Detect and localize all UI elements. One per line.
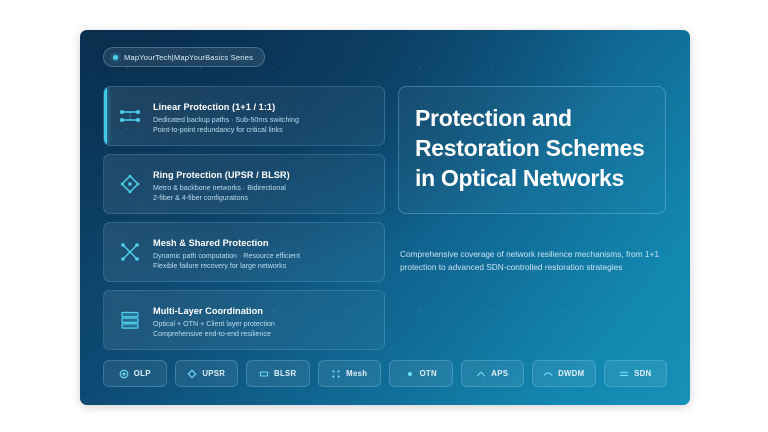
series-badge-label: MapYourTech|MapYourBasics Series: [124, 53, 253, 62]
slide-canvas: MapYourTech|MapYourBasics Series: [0, 0, 768, 432]
series-badge: MapYourTech|MapYourBasics Series: [103, 47, 265, 67]
feature-card-mesh-protection[interactable]: Mesh & Shared Protection Dynamic path co…: [103, 222, 385, 282]
title-panel: Protection and Restoration Schemes in Op…: [398, 86, 666, 214]
slide-title: Protection and Restoration Schemes in Op…: [415, 104, 649, 194]
feature-card-linear-protection[interactable]: Linear Protection (1+1 / 1:1) Dedicated …: [103, 86, 385, 146]
tag-pill-aps[interactable]: APS: [461, 360, 525, 387]
feature-card-line-2: 2-fiber & 4-fiber configurations: [153, 193, 290, 203]
technology-tag-row: OLP UPSR BLSR: [103, 360, 667, 387]
title-column: Protection and Restoration Schemes in Op…: [398, 86, 666, 275]
feature-card-multi-layer[interactable]: Multi-Layer Coordination Optical + OTN +…: [103, 290, 385, 350]
tag-pill-mesh[interactable]: Mesh: [318, 360, 382, 387]
tag-pill-label: SDN: [634, 369, 651, 378]
feature-card-ring-protection[interactable]: Ring Protection (UPSR / BLSR) Metro & ba…: [103, 154, 385, 214]
tag-pill-upsr[interactable]: UPSR: [175, 360, 239, 387]
blsr-icon: [259, 369, 269, 379]
feature-card-line-1: Metro & backbone networks · Bidirectiona…: [153, 183, 290, 193]
slide-subtitle: Comprehensive coverage of network resili…: [398, 248, 666, 275]
feature-card-title: Multi-Layer Coordination: [153, 306, 263, 316]
sdn-icon: [619, 369, 629, 379]
feature-card-list: Linear Protection (1+1 / 1:1) Dedicated …: [103, 86, 385, 350]
feature-card-line-2: Point-to-point redundancy for critical l…: [153, 125, 299, 135]
tag-pill-label: BLSR: [274, 369, 296, 378]
feature-card-title: Mesh & Shared Protection: [153, 238, 269, 248]
otn-icon: [405, 369, 415, 379]
upsr-icon: [187, 369, 197, 379]
dwdm-icon: [543, 369, 553, 379]
tag-pill-olp[interactable]: OLP: [103, 360, 167, 387]
ring-protection-icon: [115, 169, 145, 199]
tag-pill-blsr[interactable]: BLSR: [246, 360, 310, 387]
feature-card-line-2: Flexible failure recovery for large netw…: [153, 261, 300, 271]
multi-layer-icon: [115, 305, 145, 335]
tag-pill-label: DWDM: [558, 369, 584, 378]
tag-pill-label: UPSR: [202, 369, 225, 378]
feature-card-line-2: Comprehensive end-to-end resilience: [153, 329, 275, 339]
tag-pill-otn[interactable]: OTN: [389, 360, 453, 387]
olp-icon: [119, 369, 129, 379]
linear-protection-icon: [115, 101, 145, 131]
mesh-protection-icon: [115, 237, 145, 267]
tag-pill-sdn[interactable]: SDN: [604, 360, 668, 387]
tag-pill-label: OLP: [134, 369, 151, 378]
feature-card-line-1: Dedicated backup paths · Sub-50ms switch…: [153, 115, 299, 125]
mesh-icon: [331, 369, 341, 379]
tag-pill-label: APS: [491, 369, 508, 378]
aps-icon: [476, 369, 486, 379]
tag-pill-dwdm[interactable]: DWDM: [532, 360, 596, 387]
feature-card-title: Ring Protection (UPSR / BLSR): [153, 170, 290, 180]
feature-card-line-1: Optical + OTN + Client layer protection: [153, 319, 275, 329]
feature-card-line-1: Dynamic path computation · Resource effi…: [153, 251, 300, 261]
dot-icon: [113, 55, 118, 60]
tag-pill-label: OTN: [420, 369, 437, 378]
presentation-slide: MapYourTech|MapYourBasics Series: [80, 30, 690, 405]
feature-card-title: Linear Protection (1+1 / 1:1): [153, 102, 275, 112]
tag-pill-label: Mesh: [346, 369, 367, 378]
